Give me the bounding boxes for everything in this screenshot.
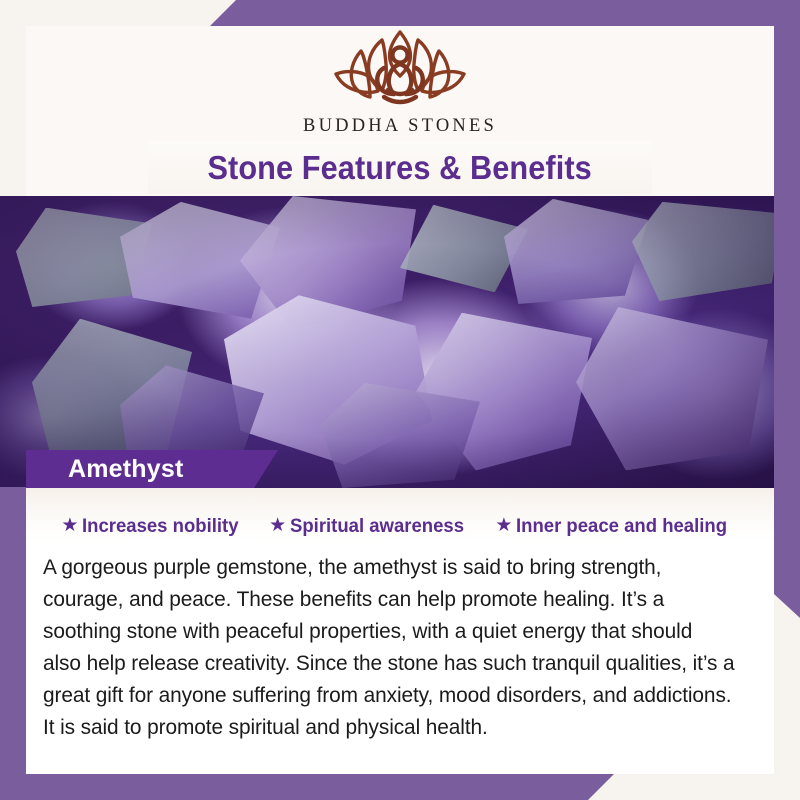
brand-name: BUDDHA STONES (303, 116, 497, 137)
brand-logo: BUDDHA STONES (0, 18, 800, 137)
benefit-label: Increases nobility (82, 515, 238, 538)
hero-image (0, 196, 800, 488)
benefit-item: ★ Inner peace and healing (495, 515, 738, 538)
stone-description: A gorgeous purple gemstone, the amethyst… (43, 551, 736, 743)
content-panel: ★ Increases nobility ★ Spiritual awarene… (26, 488, 774, 774)
stone-name-label: Amethyst (68, 455, 184, 484)
frame-bottom-bar (0, 774, 614, 800)
benefit-item: ★ Increases nobility (61, 515, 247, 538)
stone-name-banner: Amethyst (26, 450, 278, 488)
poster-canvas: BUDDHA STONES Stone Features & Benefits … (0, 0, 800, 800)
frame-left-bar (0, 487, 26, 800)
page-title: Stone Features & Benefits (208, 149, 592, 187)
benefit-label: Spiritual awareness (290, 515, 464, 538)
hero-image-vignette (0, 196, 800, 488)
lotus-meditation-icon (312, 18, 488, 114)
star-icon: ★ (61, 516, 78, 535)
title-band: Stone Features & Benefits (148, 141, 652, 194)
benefits-list: ★ Increases nobility ★ Spiritual awarene… (34, 515, 766, 538)
benefit-label: Inner peace and healing (516, 515, 727, 538)
star-icon: ★ (495, 516, 512, 535)
benefit-item: ★ Spiritual awareness (269, 515, 473, 538)
star-icon: ★ (269, 516, 286, 535)
